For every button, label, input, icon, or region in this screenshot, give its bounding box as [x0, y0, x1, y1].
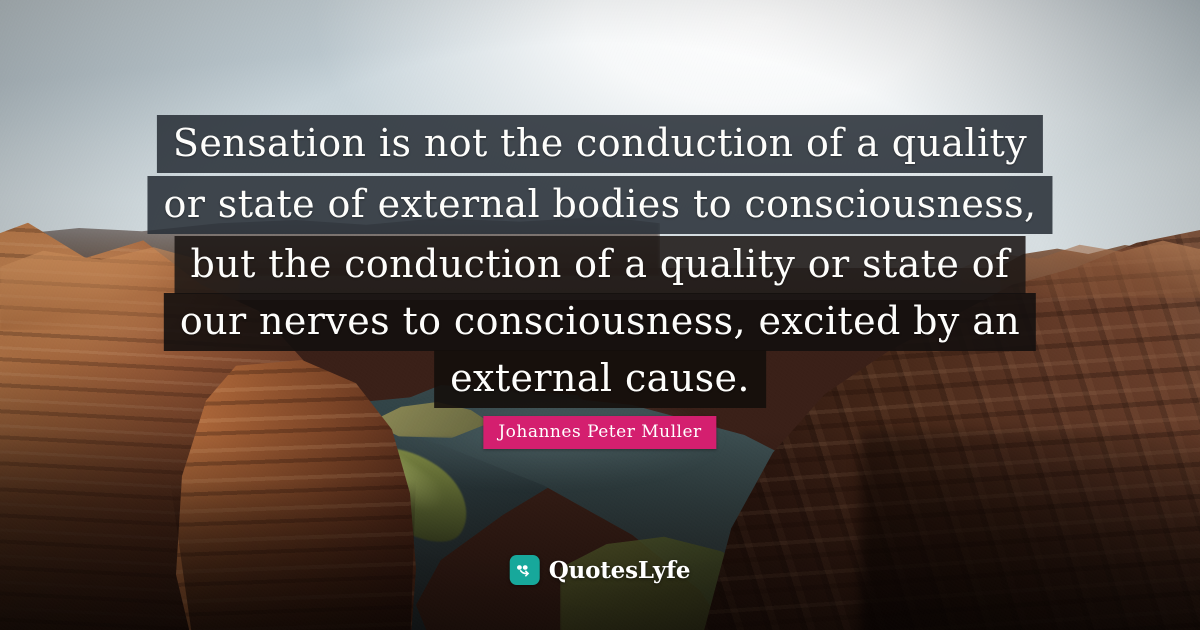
brand-name: QuotesLyfe: [549, 557, 691, 584]
quote-line-5: external cause.: [434, 350, 766, 408]
quote-mark-icon: [510, 555, 540, 585]
quote-line-1: Sensation is not the conduction of a qua…: [157, 115, 1043, 173]
brand-logo[interactable]: QuotesLyfe: [510, 555, 691, 585]
quote-block: Sensation is not the conduction of a qua…: [0, 0, 1200, 630]
quote-image-card: Sensation is not the conduction of a qua…: [0, 0, 1200, 630]
quote-line-3: but the conduction of a quality or state…: [175, 236, 1026, 294]
author-attribution-badge: Johannes Peter Muller: [483, 416, 716, 449]
quote-line-2: or state of external bodies to conscious…: [147, 176, 1052, 234]
quote-line-4: our nerves to consciousness, excited by …: [164, 293, 1036, 351]
